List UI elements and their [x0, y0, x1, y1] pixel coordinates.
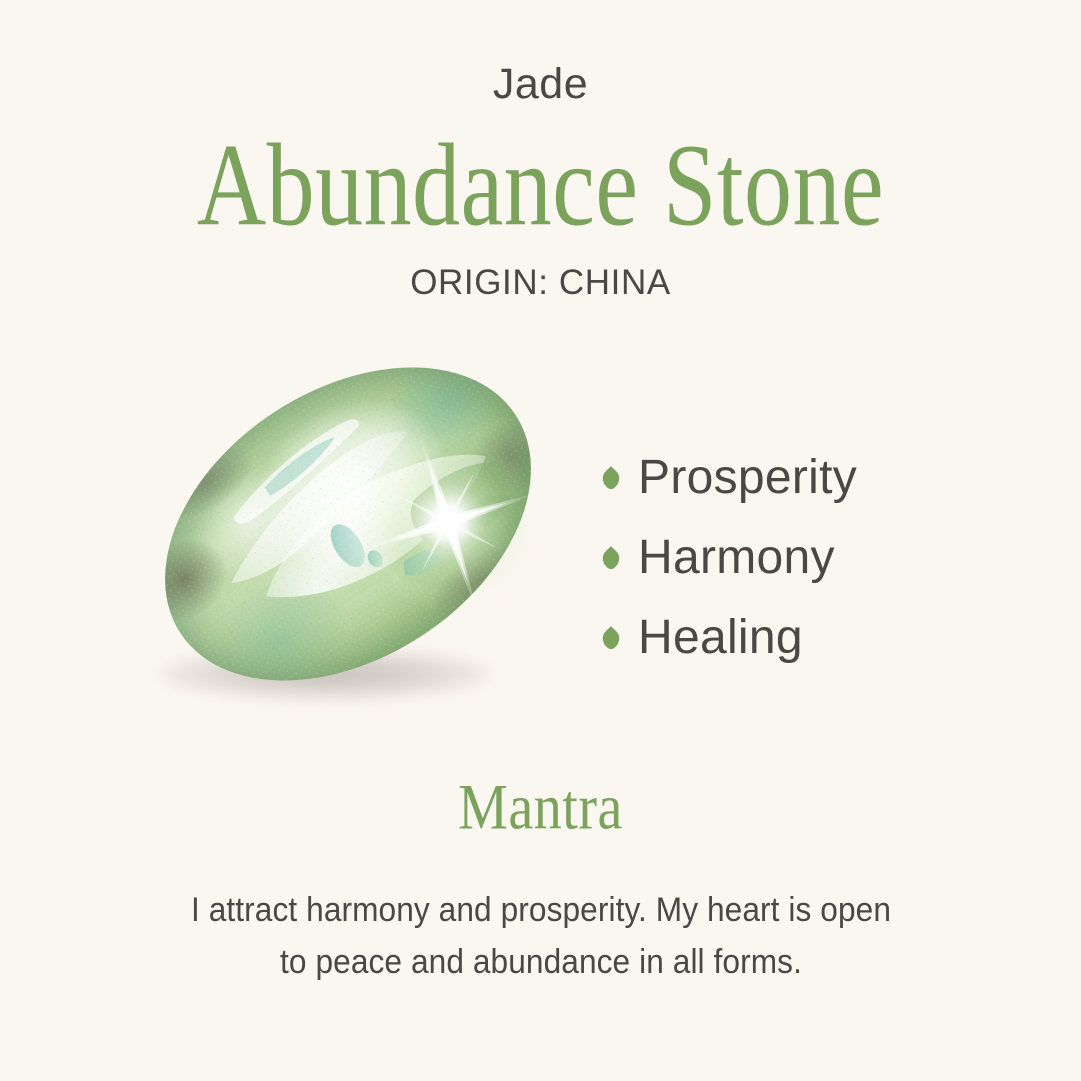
leaf-bullet-icon [600, 625, 622, 651]
mantra-text: I attract harmony and prosperity. My hea… [173, 884, 908, 988]
stone-and-properties: Prosperity Harmony Healing [0, 380, 1081, 740]
stone-eyebrow-label: Jade [0, 0, 1081, 110]
list-item: Prosperity [600, 438, 1000, 518]
stone-properties-list: Prosperity Harmony Healing [600, 438, 1000, 678]
property-label: Prosperity [638, 450, 857, 506]
mantra-section: Mantra I attract harmony and prosperity.… [0, 770, 1081, 988]
leaf-bullet-icon [600, 465, 622, 491]
mantra-heading: Mantra [0, 770, 1081, 846]
jade-stone-illustration [130, 380, 560, 725]
page-title: Abundance Stone [0, 110, 1081, 249]
leaf-bullet-icon [600, 545, 622, 571]
jade-stone-card: Jade Abundance Stone ORIGIN: CHINA [0, 0, 1081, 1081]
list-item: Harmony [600, 518, 1000, 598]
list-item: Healing [600, 598, 1000, 678]
card-header: Jade Abundance Stone ORIGIN: CHINA [0, 0, 1081, 304]
property-label: Harmony [638, 530, 835, 586]
property-label: Healing [638, 610, 803, 666]
